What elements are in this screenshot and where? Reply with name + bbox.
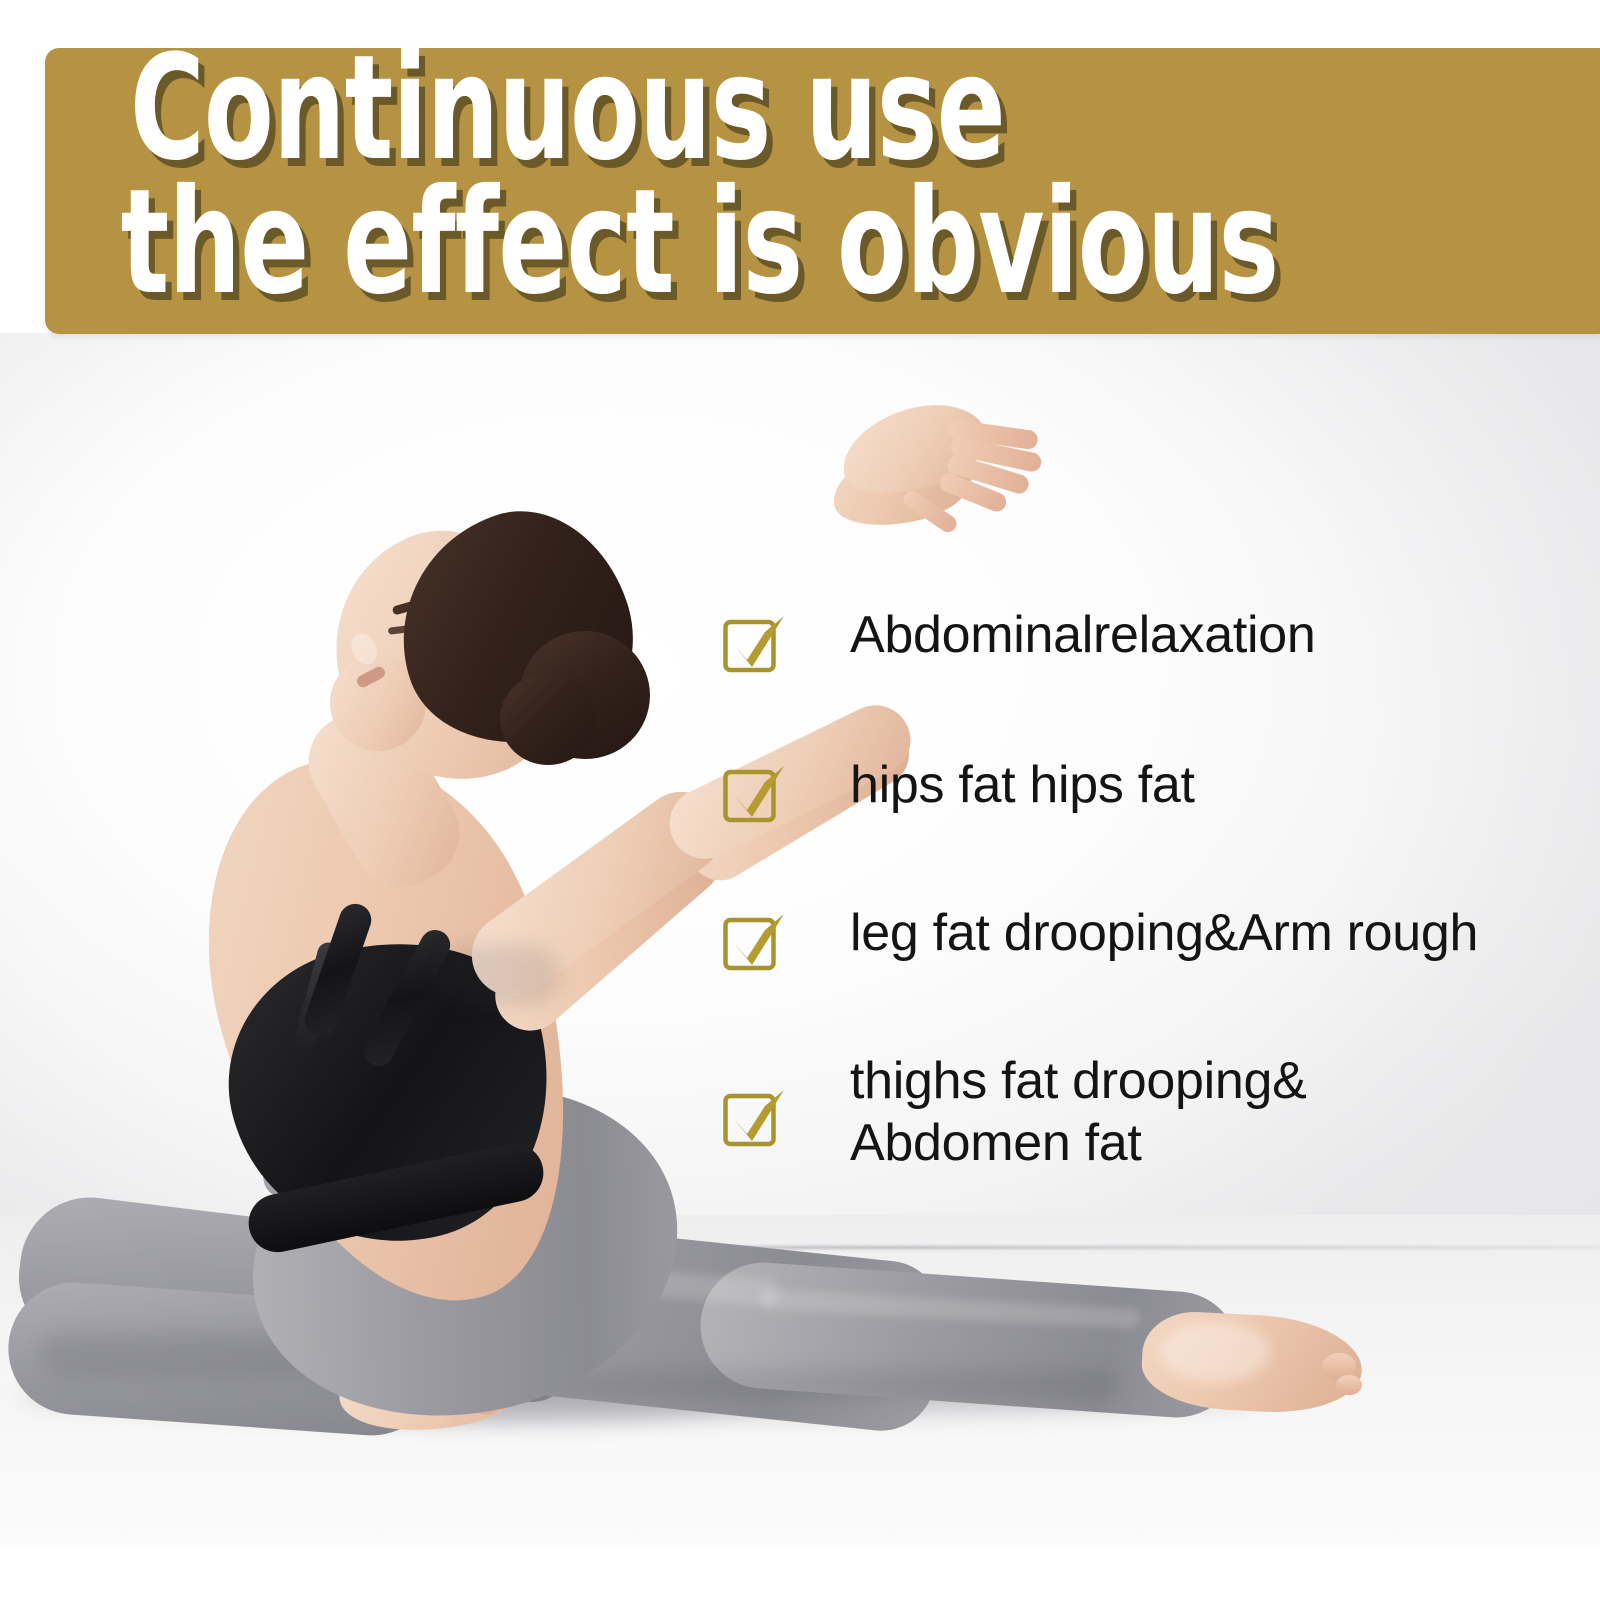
toe [1336, 1375, 1362, 1395]
product-promo-image: Continuous usethe effect is obvious Abdo… [0, 0, 1600, 1600]
armpit-shade [440, 945, 560, 1005]
checklist-item-abdominal-relaxation[interactable]: Abdominalrelaxation [722, 604, 1592, 676]
checkbox-checked-icon[interactable] [722, 764, 784, 826]
checklist-item-thighs-abdomen-fat[interactable]: thighs fat drooping& Abdomen fat [722, 1050, 1592, 1174]
title-line-2: the effect is obvious [121, 176, 1279, 310]
hair-bun-lower [500, 673, 596, 765]
checklist-item-label: hips fat hips fat [850, 754, 1195, 816]
page-title: Continuous usethe effect is obvious [130, 48, 1278, 310]
checklist-item-label: thighs fat drooping& Abdomen fat [850, 1050, 1307, 1174]
checkbox-checked-icon[interactable] [722, 1088, 784, 1150]
checkbox-checked-icon[interactable] [722, 614, 784, 676]
checkbox-checked-icon[interactable] [722, 912, 784, 974]
checklist-item-hips-fat[interactable]: hips fat hips fat [722, 754, 1592, 826]
benefits-checklist: Abdominalrelaxation hips fat hips fat le… [722, 604, 1592, 1174]
header-banner: Continuous usethe effect is obvious [45, 48, 1600, 334]
checklist-item-label: Abdominalrelaxation [850, 604, 1315, 666]
checklist-item-label: leg fat drooping&Arm rough [850, 902, 1478, 964]
checklist-item-leg-fat-arm-rough[interactable]: leg fat drooping&Arm rough [722, 902, 1592, 974]
heel-highlight [1160, 1321, 1270, 1383]
